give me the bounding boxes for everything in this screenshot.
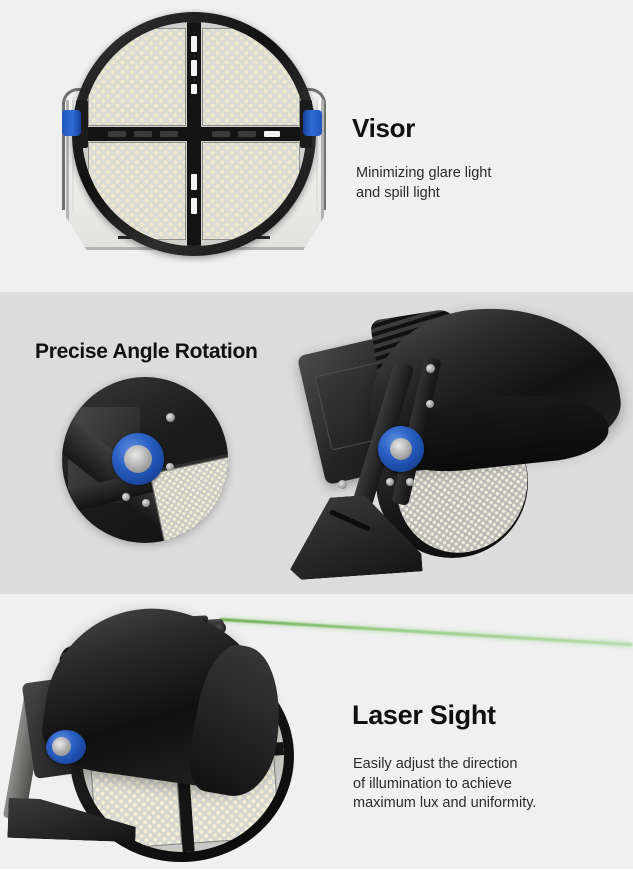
led-quadrant [88,28,186,126]
divider-tick [191,84,197,94]
section-heading-precise-angle-rotation: Precise Angle Rotation [35,340,258,364]
screw [166,463,174,471]
led-quadrant [202,142,300,240]
knob-center-cap [52,737,71,756]
feature-page: Visor Minimizing glare light and spill l… [0,0,633,869]
led-face [82,22,306,246]
product-image-front-view [0,0,633,292]
knob-center-cap [124,445,152,473]
divider-tick [191,174,197,190]
divider-tick [160,131,178,137]
screw [166,413,175,422]
section-heading-laser-sight: Laser Sight [352,700,496,731]
section-visor: Visor Minimizing glare light and spill l… [0,0,633,292]
divider-tick [191,36,197,52]
section-body-laser-sight: Easily adjust the direction of illuminat… [353,755,536,814]
divider-tick [134,131,152,137]
screw [426,400,434,408]
knob-center-cap [390,438,412,460]
led-quadrant [88,142,186,240]
divider-tick [108,131,126,137]
screw [386,478,394,486]
rotation-detail-closeup [62,377,228,543]
rotation-knob-right [303,110,322,136]
divider-tick [191,60,197,76]
screw [338,480,347,489]
screw [142,499,150,507]
divider-tick [191,198,197,214]
product-image-angled-view [280,300,633,594]
led-quadrant [202,28,300,126]
divider-tick [238,131,256,137]
divider-tick [264,131,280,137]
screw [426,364,435,373]
screw [122,493,130,501]
divider-tick [212,131,230,137]
screw [406,478,414,486]
section-heading-visor: Visor [352,113,415,144]
rotation-knob-left [62,110,81,136]
section-body-visor: Minimizing glare light and spill light [356,164,491,203]
product-image-laser-view [0,594,340,869]
